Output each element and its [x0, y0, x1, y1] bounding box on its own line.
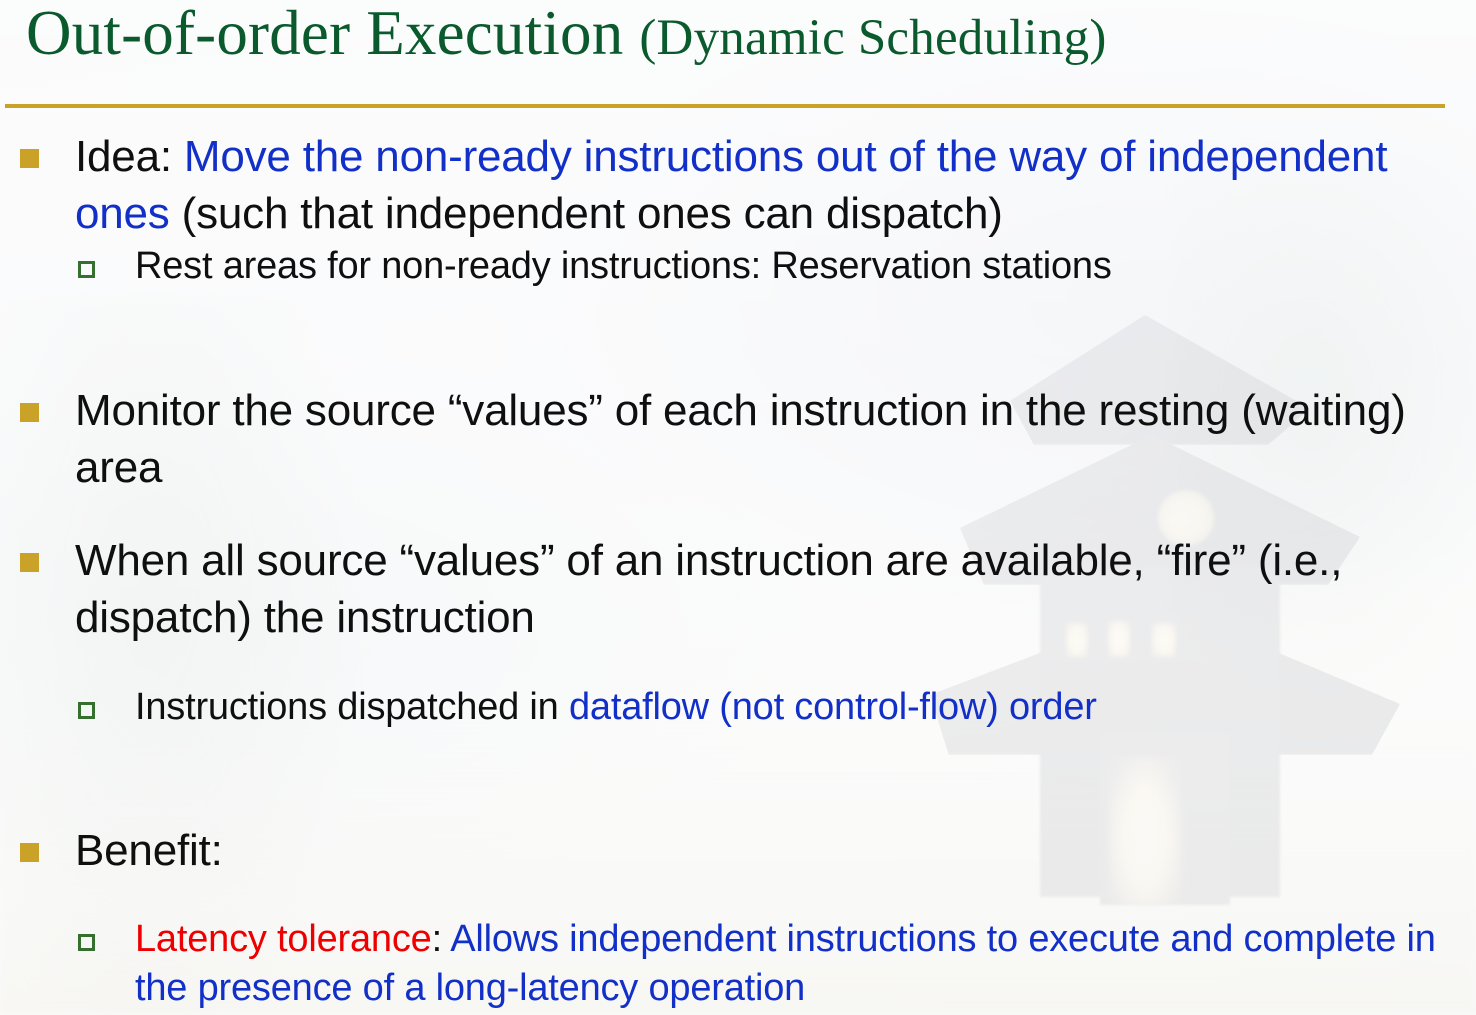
bullet-text-benefit: Benefit: — [75, 826, 223, 875]
hollow-square-bullet-icon — [78, 934, 95, 951]
bullet-item-rest-areas: Rest areas for non-ready instructions: R… — [0, 242, 1476, 291]
slide: Out-of-order Execution (Dynamic Scheduli… — [0, 0, 1476, 1015]
bullet-text-idea-tail: (such that independent ones can dispatch… — [170, 189, 1003, 238]
bullet-text-latency-colon: : — [432, 918, 451, 960]
spacer-1 — [0, 292, 1476, 382]
spacer-5 — [0, 879, 1476, 915]
hollow-square-bullet-icon — [78, 261, 95, 278]
square-bullet-icon — [20, 149, 39, 168]
spacer-2 — [0, 496, 1476, 532]
title-divider-rule — [5, 104, 1445, 108]
bullet-text-idea-label: Idea: — [75, 132, 184, 181]
bullet-list: Idea: Move the non-ready instructions ou… — [0, 128, 1476, 1014]
spacer-4 — [0, 732, 1476, 822]
bullet-text-dataflow-lead: Instructions dispatched in — [135, 686, 569, 728]
slide-title-subtitle: (Dynamic Scheduling) — [639, 10, 1106, 66]
bullet-text-latency-label: Latency tolerance — [135, 918, 432, 960]
bullet-item-latency-tolerance: Latency tolerance: Allows independent in… — [0, 915, 1476, 1014]
bullet-item-idea: Idea: Move the non-ready instructions ou… — [0, 128, 1476, 242]
bullet-text-monitor: Monitor the source “values” of each inst… — [75, 386, 1406, 492]
bullet-item-monitor: Monitor the source “values” of each inst… — [0, 382, 1476, 496]
slide-title-main: Out-of-order Execution — [26, 0, 639, 68]
square-bullet-icon — [20, 843, 39, 862]
square-bullet-icon — [20, 553, 39, 572]
slide-content: Out-of-order Execution (Dynamic Scheduli… — [0, 0, 1476, 1015]
bullet-item-benefit: Benefit: — [0, 822, 1476, 879]
square-bullet-icon — [20, 403, 39, 422]
bullet-text-dataflow-blue: dataflow (not control-flow) order — [569, 686, 1097, 728]
spacer-3 — [0, 647, 1476, 683]
slide-title: Out-of-order Execution (Dynamic Scheduli… — [26, 2, 1107, 65]
bullet-text-when-all-source: When all source “values” of an instructi… — [75, 536, 1342, 642]
bullet-item-when-all-source: When all source “values” of an instructi… — [0, 532, 1476, 646]
hollow-square-bullet-icon — [78, 702, 95, 719]
bullet-item-dataflow-order: Instructions dispatched in dataflow (not… — [0, 683, 1476, 732]
bullet-text-rest-areas: Rest areas for non-ready instructions: R… — [135, 245, 1112, 287]
